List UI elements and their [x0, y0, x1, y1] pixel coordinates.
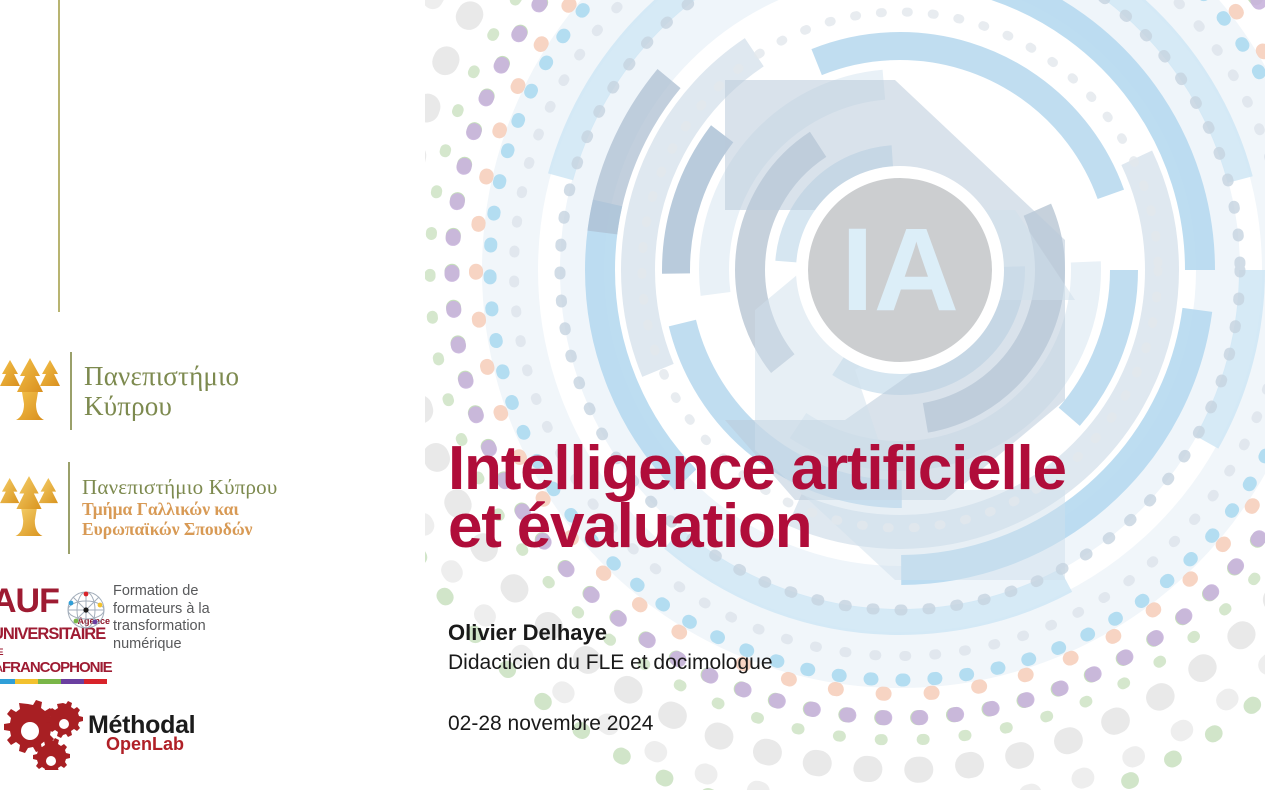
ucy-tree-icon — [0, 358, 60, 424]
auf-francophonie-label: DE LAFRANCOPHONIE — [0, 643, 110, 677]
openlab-wordmark: OpenLab — [106, 735, 195, 754]
auf-tagline: Formation de formateurs à la transformat… — [113, 583, 233, 653]
author-block: Olivier Delhaye Didacticien du FLE et do… — [448, 618, 1238, 678]
auf-francophonie-word: FRANCOPHONIE — [2, 659, 112, 676]
logo-ucy-french-european-studies: Πανεπιστήμιο Κύπρου Τμήμα Γαλλικών και Ε… — [0, 462, 320, 554]
logo-methodal-openlab: Méthodal OpenLab — [0, 698, 300, 772]
ucy-name-line-1: Πανεπιστήμιο — [84, 361, 239, 391]
page-title: Intelligence artificielle et évaluation — [448, 440, 1238, 556]
ucy-dept-line-3: Ευρωπαϊκών Σπουδών — [82, 520, 277, 540]
logo-auf: AUF Agence UNIVERSITAIRE DE LAFRANCOPHON… — [0, 586, 330, 664]
author-name: Olivier Delhaye — [448, 618, 1238, 648]
ucy-tree-icon — [0, 476, 58, 540]
slide-text-block: Intelligence artificielle et évaluation … — [448, 440, 1238, 738]
ucy-name-line-2: Κύπρου — [84, 391, 239, 421]
ucy-dept-line-1: Πανεπιστήμιο Κύπρου — [82, 476, 277, 500]
logo-divider — [68, 462, 70, 554]
logo-sidebar: Πανεπιστήμιο Κύπρου — [0, 0, 430, 790]
presentation-title-slide: IA — [0, 0, 1265, 790]
logo-divider — [70, 352, 72, 430]
author-role: Didacticien du FLE et docimologue — [448, 648, 1238, 678]
event-date: 02-28 novembre 2024 — [448, 710, 1238, 738]
title-line-2: et évaluation — [448, 498, 1238, 556]
ia-center-label: IA — [841, 204, 959, 336]
logo-university-of-cyprus: Πανεπιστήμιο Κύπρου — [0, 352, 300, 430]
auf-color-bar — [0, 679, 107, 684]
ucy-dept-line-2: Τμήμα Γαλλικών και — [82, 500, 277, 520]
gears-icon — [2, 698, 88, 770]
network-icon — [64, 588, 108, 632]
accent-vertical-rule — [58, 0, 60, 312]
